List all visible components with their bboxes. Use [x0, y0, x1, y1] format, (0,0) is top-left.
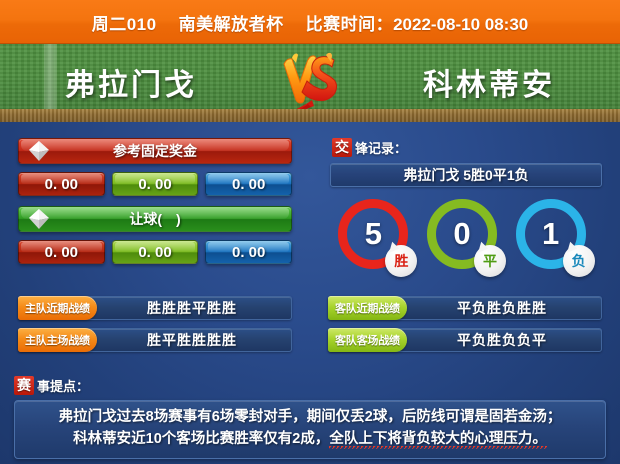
h2h-ring-draw: 0 平: [427, 199, 503, 275]
h2h-win-badge: 胜: [385, 245, 417, 277]
handicap-title: 让球( ): [129, 209, 180, 229]
diamond-gem-icon: [27, 207, 51, 231]
handicap-odds-row: 0. 00 0. 00 0. 00: [18, 240, 292, 264]
fixed-bonus-title-bar: 参考固定奖金: [18, 138, 292, 164]
form-row-away-venue[interactable]: 客队客场战绩 平负胜负负平: [328, 328, 602, 352]
form-row-home-venue[interactable]: 主队主场战绩 胜平胜胜胜胜: [18, 328, 292, 352]
h2h-lose-badge: 负: [563, 245, 595, 277]
diamond-gem-icon: [27, 139, 51, 163]
league-name: 南美解放者杯: [179, 10, 284, 35]
match-tips-section: 赛 事提点： 弗拉门戈过去8场赛事有6场零封对手，期间仅丢2球，后防线可谓是固若…: [0, 376, 620, 459]
head-to-head-panel: 交 锋记录： 弗拉门戈 5胜0平1负 5 胜 0 平 1 负: [310, 128, 620, 275]
h2h-ring-win: 5 胜: [338, 199, 414, 275]
tips-label-badge: 赛: [14, 376, 34, 394]
form-tag-away-recent: 客队近期战绩: [328, 296, 407, 320]
form-line-recent: 主队近期战绩 胜胜胜平胜胜 客队近期战绩 平负胜负胜胜: [0, 296, 620, 320]
fixed-odds-row: 0. 00 0. 00 0. 00: [18, 172, 292, 196]
fixed-bonus-title: 参考固定奖金: [113, 141, 197, 161]
tips-content-box: 弗拉门戈过去8场赛事有6场零封对手，期间仅丢2球，后防线可谓是固若金汤； 科林蒂…: [14, 400, 606, 459]
form-tag-home-venue: 主队主场战绩: [18, 328, 97, 352]
fixed-odd-win[interactable]: 0. 00: [18, 172, 105, 196]
form-tag-home-recent: 主队近期战绩: [18, 296, 97, 320]
form-col-away-venue: 客队客场战绩 平负胜负负平: [310, 328, 620, 352]
handicap-odd-lose[interactable]: 0. 00: [205, 240, 292, 264]
h2h-ring-lose: 1 负: [516, 199, 592, 275]
h2h-summary-bar: 弗拉门戈 5胜0平1负: [330, 163, 602, 187]
team-form-section: 主队近期战绩 胜胜胜平胜胜 客队近期战绩 平负胜负胜胜 主队主场战绩 胜平胜胜胜…: [0, 296, 620, 360]
vs-flame-icon: [262, 52, 358, 116]
odds-panel: 参考固定奖金 0. 00 0. 00 0. 00 让球( ) 0. 00 0. …: [0, 128, 310, 264]
form-line-venue: 主队主场战绩 胜平胜胜胜胜 客队客场战绩 平负胜负负平: [0, 328, 620, 352]
header-text-group: 周二010 南美解放者杯 比赛时间： 2022-08-10 08:30: [92, 10, 529, 35]
match-time-value: 2022-08-10 08:30: [393, 15, 528, 35]
fixed-odd-lose[interactable]: 0. 00: [205, 172, 292, 196]
handicap-odd-draw[interactable]: 0. 00: [112, 240, 199, 264]
form-col-home-venue: 主队主场战绩 胜平胜胜胜胜: [0, 328, 310, 352]
tips-line-2-plain: 科林蒂安近10个客场比赛胜率仅有2成，: [73, 431, 329, 447]
form-col-away-recent: 客队近期战绩 平负胜负胜胜: [310, 296, 620, 320]
tips-line-2: 科林蒂安近10个客场比赛胜率仅有2成，全队上下将背负较大的心理压力。: [23, 428, 597, 450]
away-team-name: 科林蒂安: [364, 60, 614, 104]
h2h-section-label: 交 锋记录：: [332, 138, 620, 157]
handicap-odd-win[interactable]: 0. 00: [18, 240, 105, 264]
match-preview-page: 周二010 南美解放者杯 比赛时间： 2022-08-10 08:30 弗拉门戈…: [0, 0, 620, 464]
page-header: 周二010 南美解放者杯 比赛时间： 2022-08-10 08:30: [0, 0, 620, 44]
tips-line-2-marked: 全队上下将背负较大的心理压力。: [329, 431, 547, 449]
tips-section-label: 赛 事提点：: [14, 376, 620, 395]
h2h-rings-group: 5 胜 0 平 1 负: [332, 199, 598, 275]
form-row-away-recent[interactable]: 客队近期战绩 平负胜负胜胜: [328, 296, 602, 320]
tips-label-text: 事提点：: [37, 376, 89, 395]
form-tag-away-venue: 客队客场战绩: [328, 328, 407, 352]
form-col-home-recent: 主队近期战绩 胜胜胜平胜胜: [0, 296, 310, 320]
h2h-draw-badge: 平: [474, 245, 506, 277]
home-team-name: 弗拉门戈: [6, 60, 256, 104]
h2h-label-badge: 交: [332, 138, 352, 156]
h2h-label-text: 锋记录：: [355, 138, 407, 157]
match-time-label: 比赛时间：: [306, 10, 394, 35]
pitch-banner: 弗拉门戈 科林蒂安: [0, 44, 620, 122]
form-row-home-recent[interactable]: 主队近期战绩 胜胜胜平胜胜: [18, 296, 292, 320]
tips-line-1: 弗拉门戈过去8场赛事有6场零封对手，期间仅丢2球，后防线可谓是固若金汤；: [23, 406, 597, 428]
match-round: 周二010: [92, 10, 157, 35]
fixed-odd-draw[interactable]: 0. 00: [112, 172, 199, 196]
handicap-title-bar: 让球( ): [18, 206, 292, 232]
